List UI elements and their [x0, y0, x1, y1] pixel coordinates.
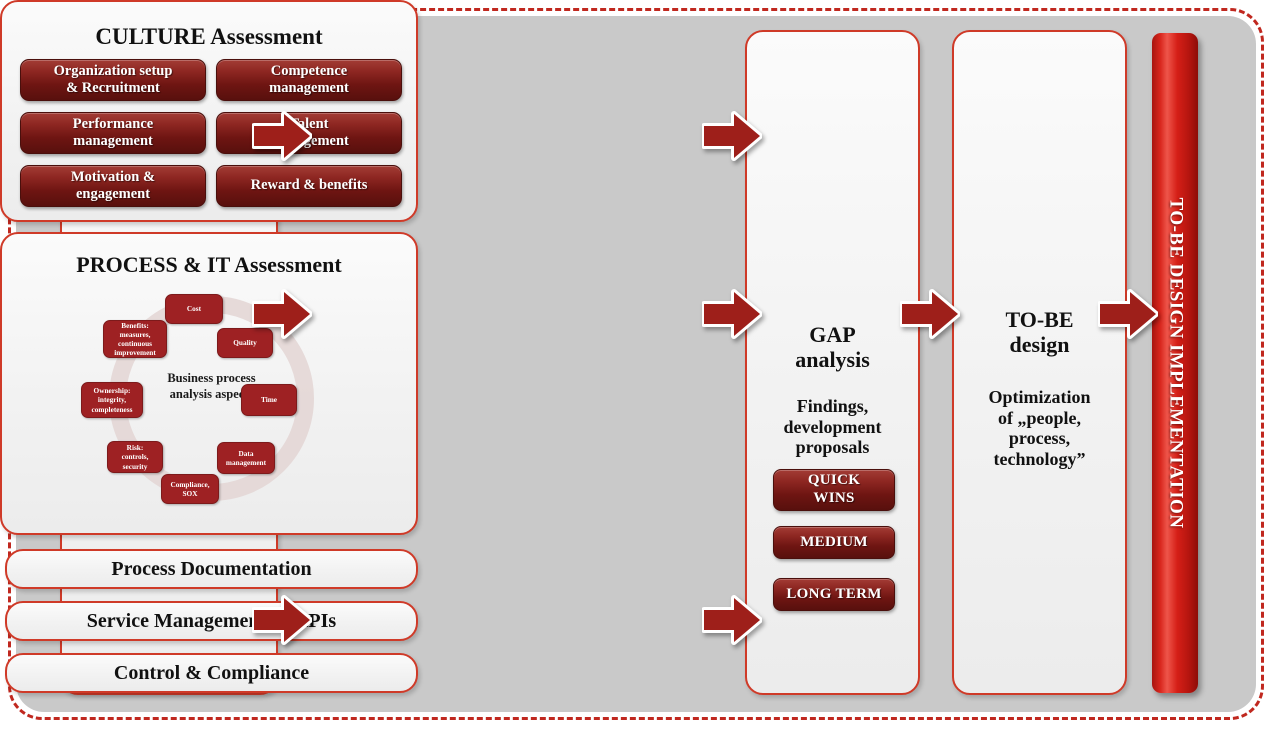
arrow-tobe-to-implementation-icon [1098, 288, 1158, 340]
arrow-preparation-to-culture-icon [252, 110, 312, 162]
arrow-gap-to-tobe-icon [900, 288, 960, 340]
cycle-node-ownership[interactable]: Ownership:integrity,completeness [81, 382, 143, 418]
cycle-node-risk[interactable]: Risk:controls,security [107, 441, 163, 473]
culture-item-performance-management[interactable]: Performancemanagement [20, 112, 206, 154]
gap-priority-quick-wins[interactable]: QUICKWINS [773, 469, 895, 511]
bar-service-management-kpis[interactable]: Service Management & KPIs [5, 601, 418, 641]
arrow-service-to-gap-icon [702, 594, 762, 646]
column-tobe-design: TO-BEdesign Optimizationof „people,proce… [952, 30, 1127, 695]
bar-control-compliance[interactable]: Control & Compliance [5, 653, 418, 693]
gap-analysis-subtitle: Findings,developmentproposals [747, 396, 918, 458]
gap-analysis-title: GAPanalysis [747, 322, 918, 373]
culture-item-grid: Organization setup& Recruitment Competen… [20, 59, 402, 207]
cycle-node-benefits[interactable]: Benefits:measures,continuousimprovement [103, 320, 167, 358]
bar-process-documentation-label: Process Documentation [7, 551, 416, 587]
arrow-culture-to-gap-icon [702, 110, 762, 162]
cycle-node-time[interactable]: Time [241, 384, 297, 416]
culture-item-organization-setup[interactable]: Organization setup& Recruitment [20, 59, 206, 101]
business-process-cycle-diagram: Business processanalysis aspects Cost Qu… [51, 286, 371, 526]
process-it-assessment-title: PROCESS & IT Assessment [2, 252, 416, 278]
culture-item-motivation-engagement[interactable]: Motivation &engagement [20, 165, 206, 207]
bar-control-compliance-label: Control & Compliance [7, 655, 416, 691]
bar-service-management-kpis-label: Service Management & KPIs [7, 603, 416, 639]
gap-priority-long-term[interactable]: LONG TERM [773, 578, 895, 611]
column-assessment: CULTURE Assessment Organization setup& R… [0, 0, 418, 665]
column-gap-analysis: GAPanalysis Findings,developmentproposal… [745, 30, 920, 695]
arrow-process-to-gap-icon [702, 288, 762, 340]
tobe-design-implementation-label: TO-BE DESIGN IMPLEMENTATION [1164, 198, 1186, 529]
cycle-node-compliance-sox[interactable]: Compliance,SOX [161, 474, 219, 504]
culture-item-competence-management[interactable]: Competencemanagement [216, 59, 402, 101]
cycle-node-cost[interactable]: Cost [165, 294, 223, 324]
culture-assessment-title: CULTURE Assessment [2, 24, 416, 50]
panel-culture-assessment: CULTURE Assessment Organization setup& R… [0, 0, 418, 222]
arrow-preparation-to-process-icon [252, 288, 312, 340]
bar-process-documentation[interactable]: Process Documentation [5, 549, 418, 589]
panel-process-it-assessment: PROCESS & IT Assessment Business process… [0, 232, 418, 535]
tobe-design-subtitle: Optimizationof „people,process,technolog… [954, 387, 1125, 470]
gap-priority-medium[interactable]: MEDIUM [773, 526, 895, 559]
arrow-preparation-to-service-icon [252, 594, 312, 646]
culture-item-reward-benefits[interactable]: Reward & benefits [216, 165, 402, 207]
tobe-design-implementation-bar[interactable]: TO-BE DESIGN IMPLEMENTATION [1152, 33, 1198, 693]
cycle-node-data-management[interactable]: Datamanagement [217, 442, 275, 474]
